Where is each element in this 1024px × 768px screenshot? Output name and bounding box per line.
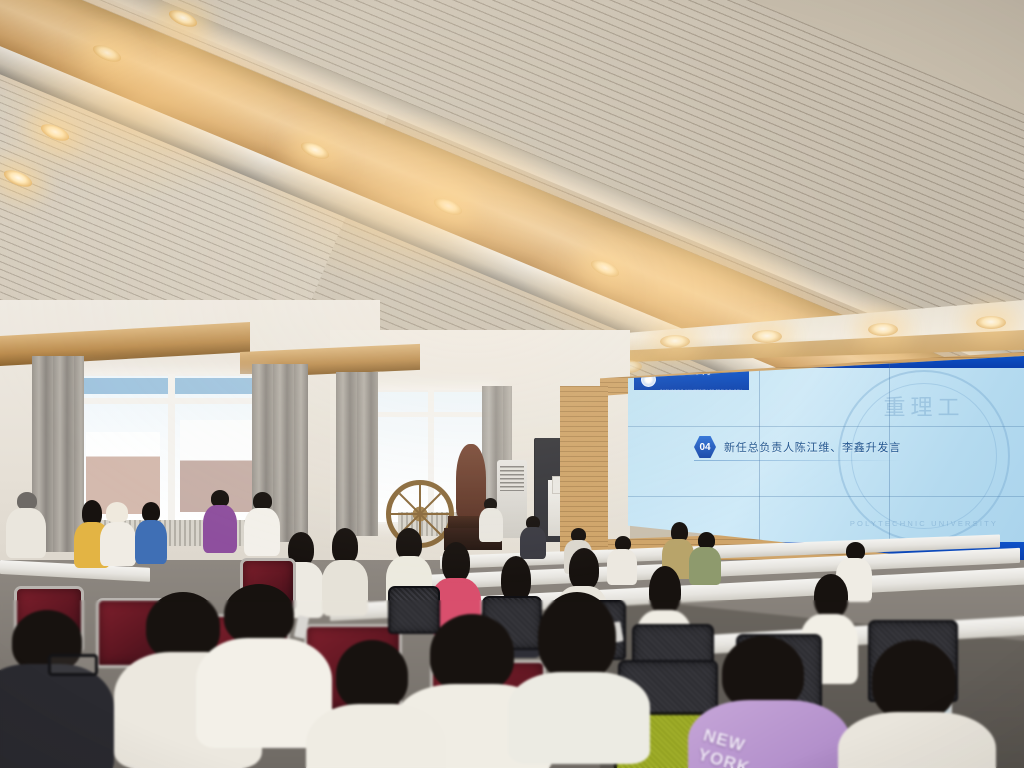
window-mullion: [168, 374, 175, 522]
downlight-icon: [868, 323, 898, 336]
window-mullion: [372, 412, 490, 417]
watermark-english: POLYTECHNIC UNIVERSITY: [840, 519, 1008, 528]
hair: [722, 636, 804, 710]
slide-underline: [694, 460, 902, 461]
downlight-icon: [976, 316, 1006, 329]
watermark-chinese: 重理工: [840, 390, 1008, 422]
lecture-hall-photo: 重理工 POLYTECHNIC UNIVERSITY 重庆理工大学 CHONGQ…: [0, 0, 1024, 768]
chair-mesh[interactable]: [388, 586, 440, 634]
logo-name-en: CHONGQING UNIVERSITY OF TECHNOLOGY: [660, 389, 742, 393]
downlight-icon: [660, 335, 690, 348]
curtain-right: [336, 372, 378, 536]
slide-title-text: 新任总负责人陈江维、李鑫升发言: [724, 439, 901, 455]
slide-agenda-item: 04 新任总负责人陈江维、李鑫升发言: [694, 436, 901, 458]
window-mullion: [78, 398, 262, 404]
slide-number-badge: 04: [694, 436, 716, 458]
buddha-statue: [456, 444, 486, 518]
eyeglasses-icon: [48, 654, 98, 676]
downlight-icon: [752, 330, 782, 343]
